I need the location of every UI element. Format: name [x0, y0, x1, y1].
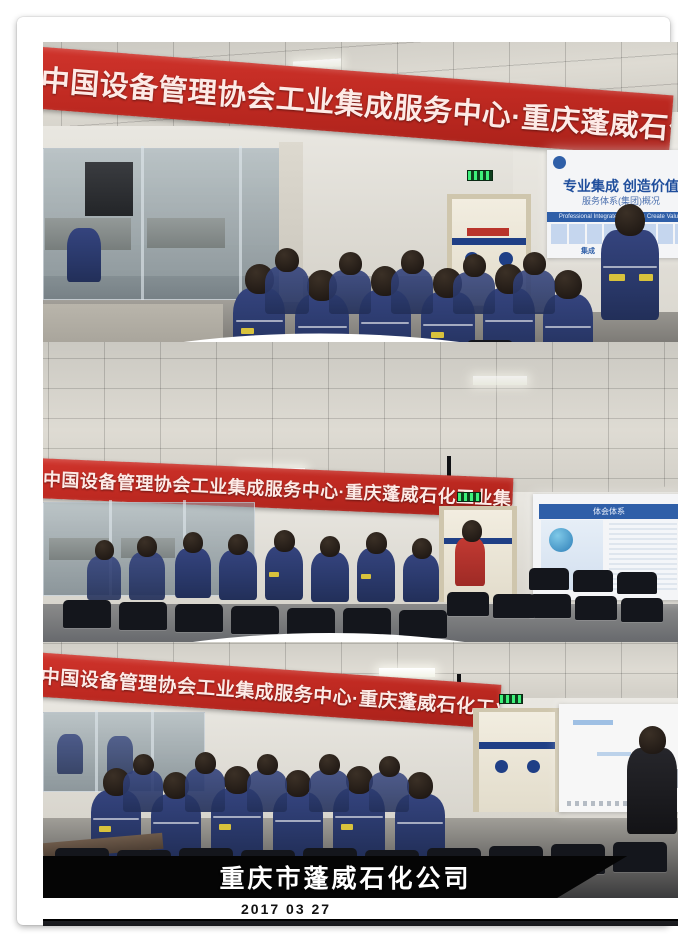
equipment-cabinet [85, 162, 133, 216]
chair [63, 600, 111, 628]
presenter-head [462, 520, 482, 542]
slide-chart-globe [549, 528, 573, 552]
presenter-head [639, 726, 666, 754]
exit-sign-text [468, 171, 492, 180]
panel-top-scene: 中国设备管理协会工业集成服务中心·重庆蓬威石化工业集成交流会 [43, 42, 678, 362]
presenter-middle [455, 538, 485, 586]
uniform-patch [639, 274, 653, 281]
worker-in-control-room [57, 734, 83, 774]
caption-bar: 重庆市蓬威石化公司 [43, 856, 678, 898]
photo-frame: 中国设备管理协会工业集成服务中心·重庆蓬威石化工业集成交流会 [17, 17, 670, 925]
slide-subtitle: 服务体系(集团)概况 [547, 194, 678, 207]
window-mullion [239, 146, 242, 300]
collage-panel-top: 中国设备管理协会工业集成服务中心·重庆蓬威石化工业集成交流会 [43, 42, 678, 362]
chair [399, 610, 447, 638]
chair [231, 606, 279, 634]
chair [287, 608, 335, 636]
company-title: 重庆市蓬威石化公司 [43, 856, 678, 898]
window-mullion [95, 710, 98, 792]
caption-underline [43, 919, 678, 921]
uniform-stripe [603, 266, 657, 268]
door-decal-band [452, 238, 526, 245]
collage-panel-middle: 中国设备管理协会工业集成服务中心·重庆蓬威石化工业集成交流会 [43, 342, 678, 662]
collage-container: 中国设备管理协会工业集成服务中心·重庆蓬威石化工业集成交流会 [43, 42, 678, 926]
presenter-head [615, 204, 645, 236]
panel-middle-scene: 中国设备管理协会工业集成服务中心·重庆蓬威石化工业集成交流会 [43, 342, 678, 662]
control-console [147, 218, 225, 248]
window-mullion [141, 146, 144, 300]
ceiling-light [379, 668, 435, 677]
exit-sign [467, 170, 493, 181]
slide-text-placeholder [597, 752, 631, 756]
slide-heading-placeholder [573, 720, 613, 725]
ceiling-light [473, 376, 527, 385]
door-decal-circle [527, 760, 540, 773]
photo-date: 2017 03 27 [43, 898, 678, 919]
door-decal-band [479, 742, 555, 749]
uniform-patch [609, 274, 625, 281]
door-decal-circle [495, 760, 508, 773]
slide-title: 体会体系 [539, 504, 678, 519]
caption-area: 重庆市蓬威石化公司 2017 03 27 [43, 856, 678, 926]
slide-title: 专业集成 创造价值 [547, 176, 678, 196]
slide-band-text: Professional Integrated Services Create … [547, 212, 678, 222]
presenter-bottom [627, 748, 677, 834]
chair [175, 604, 223, 632]
photo-collage-page: 中国设备管理协会工业集成服务中心·重庆蓬威石化工业集成交流会 [0, 0, 687, 942]
exit-sign [457, 492, 481, 502]
slide-logo-mark [553, 156, 566, 169]
exit-sign [499, 694, 523, 704]
chair [119, 602, 167, 630]
door-glass [479, 712, 555, 812]
chair [343, 608, 391, 636]
slide-footer-logo: 集成 [581, 246, 595, 256]
worker-in-control-room [67, 228, 101, 282]
door-decal-red [467, 228, 509, 236]
